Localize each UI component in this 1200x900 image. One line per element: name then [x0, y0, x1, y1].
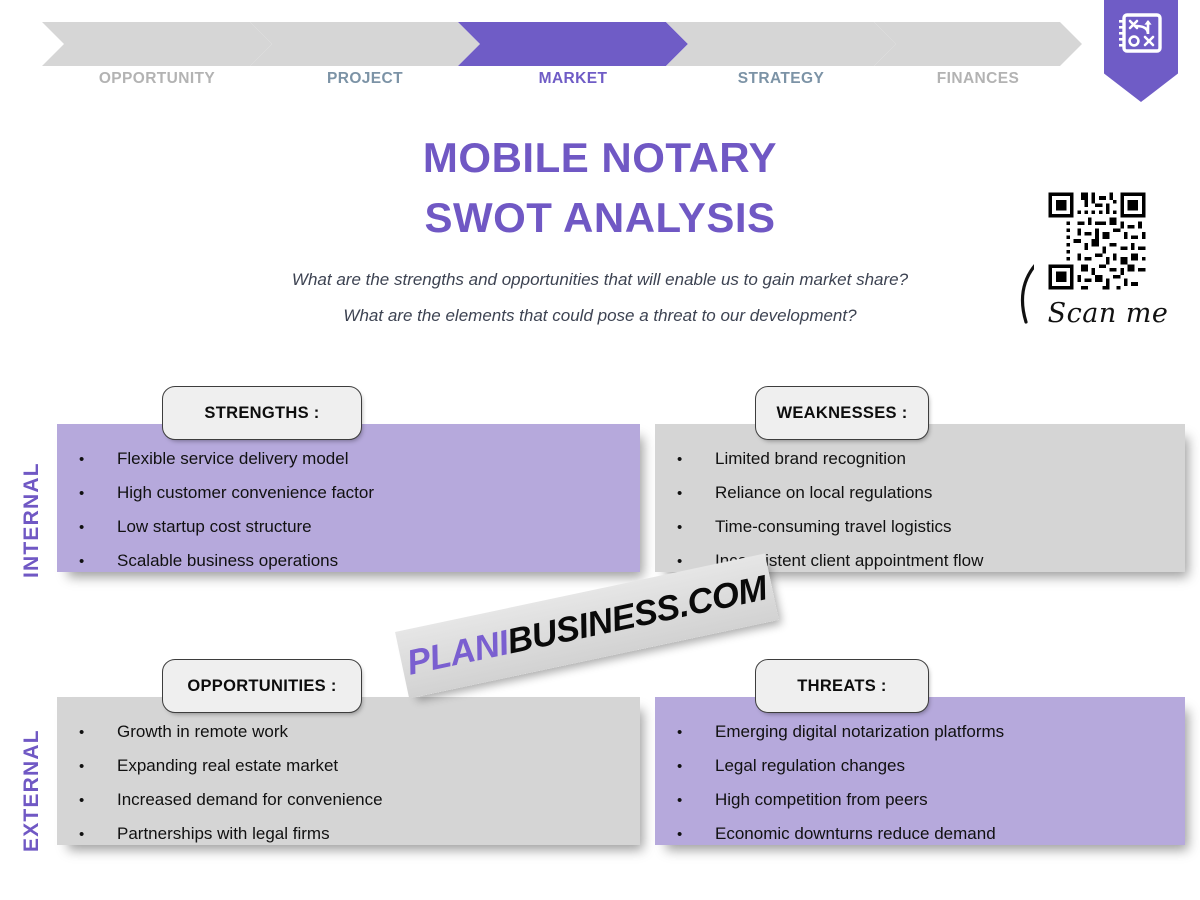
list-item-text: Expanding real estate market: [117, 757, 338, 774]
nav-step-label: OPPORTUNITY: [42, 70, 272, 88]
bullet-icon: •: [71, 486, 117, 501]
bullet-icon: •: [669, 759, 715, 774]
qr-code-icon[interactable]: [1034, 186, 1160, 296]
list-item: • High competition from peers: [669, 791, 1004, 808]
list-item-text: Growth in remote work: [117, 723, 288, 740]
bullet-icon: •: [71, 520, 117, 535]
bullet-icon: •: [71, 725, 117, 740]
axis-label-internal: INTERNAL: [20, 462, 44, 578]
chevron-shape: [458, 22, 688, 66]
list-item: • Expanding real estate market: [71, 757, 383, 774]
bullet-icon: •: [71, 554, 117, 569]
list-item: • Limited brand recognition: [669, 450, 983, 467]
nav-step-opportunity[interactable]: OPPORTUNITY: [42, 22, 272, 66]
bullet-icon: •: [669, 452, 715, 467]
nav-step-project[interactable]: PROJECT: [250, 22, 480, 66]
quadrant-threats-title: THREATS :: [797, 677, 886, 696]
list-item-text: Reliance on local regulations: [715, 484, 932, 501]
chevron-shape: [666, 22, 896, 66]
bullet-icon: •: [669, 725, 715, 740]
quadrant-strengths-badge: STRENGTHS :: [162, 386, 362, 440]
quadrant-opportunities-badge: OPPORTUNITIES :: [162, 659, 362, 713]
threats-list: • Emerging digital notarization platform…: [655, 697, 1004, 859]
list-item-text: Legal regulation changes: [715, 757, 905, 774]
list-item: • Low startup cost structure: [71, 518, 374, 535]
list-item: • Flexible service delivery model: [71, 450, 374, 467]
quadrant-weaknesses-title: WEAKNESSES :: [776, 404, 907, 423]
axis-label-external: EXTERNAL: [20, 729, 44, 852]
chevron-shape: [874, 22, 1082, 66]
list-item-text: Emerging digital notarization platforms: [715, 723, 1004, 740]
list-item: • High customer convenience factor: [71, 484, 374, 501]
list-item: • Reliance on local regulations: [669, 484, 983, 501]
quadrant-threats-body: • Emerging digital notarization platform…: [655, 697, 1185, 845]
quadrant-weaknesses-body: • Limited brand recognition • Reliance o…: [655, 424, 1185, 572]
list-item-text: High customer convenience factor: [117, 484, 374, 501]
qr-block: Scan me: [1012, 186, 1182, 361]
bullet-icon: •: [669, 793, 715, 808]
list-item: • Legal regulation changes: [669, 757, 1004, 774]
list-item-text: Partnerships with legal firms: [117, 825, 330, 842]
quadrant-opportunities-body: • Growth in remote work • Expanding real…: [57, 697, 640, 845]
opportunities-list: • Growth in remote work • Expanding real…: [57, 697, 383, 859]
bullet-icon: •: [71, 827, 117, 842]
list-item-text: Flexible service delivery model: [117, 450, 348, 467]
chevron-shape: [42, 22, 272, 66]
watermark-banner: PLANIBUSINESS.COM: [395, 553, 779, 698]
scan-me-label: Scan me: [1038, 298, 1178, 329]
nav-step-label: STRATEGY: [666, 70, 896, 88]
chevron-shape: [250, 22, 480, 66]
quadrant-threats-badge: THREATS :: [755, 659, 929, 713]
bullet-icon: •: [71, 793, 117, 808]
list-item-text: Economic downturns reduce demand: [715, 825, 996, 842]
bullet-icon: •: [669, 486, 715, 501]
progress-nav: OPPORTUNITY PROJECT MARKET STRATEGY FINA…: [0, 0, 1200, 100]
nav-step-market[interactable]: MARKET: [458, 22, 688, 66]
list-item: • Scalable business operations: [71, 552, 374, 569]
list-item: • Increased demand for convenience: [71, 791, 383, 808]
watermark-text: PLANIBUSINESS.COM: [403, 568, 770, 683]
watermark-brand-part2: BUSINESS.COM: [504, 568, 771, 661]
list-item-text: High competition from peers: [715, 791, 928, 808]
strengths-list: • Flexible service delivery model • High…: [57, 424, 374, 586]
bullet-icon: •: [669, 520, 715, 535]
list-item-text: Low startup cost structure: [117, 518, 312, 535]
bullet-icon: •: [71, 452, 117, 467]
list-item: • Partnerships with legal firms: [71, 825, 383, 842]
watermark-brand-part1: PLANI: [403, 623, 511, 682]
bullet-icon: •: [669, 827, 715, 842]
quadrant-weaknesses-badge: WEAKNESSES :: [755, 386, 929, 440]
weaknesses-list: • Limited brand recognition • Reliance o…: [655, 424, 983, 586]
list-item: • Growth in remote work: [71, 723, 383, 740]
nav-step-strategy[interactable]: STRATEGY: [666, 22, 896, 66]
nav-step-finances[interactable]: FINANCES: [874, 22, 1082, 66]
nav-step-label: PROJECT: [250, 70, 480, 88]
nav-step-label: FINANCES: [874, 70, 1082, 88]
quadrant-strengths-body: • Flexible service delivery model • High…: [57, 424, 640, 572]
quadrant-opportunities-title: OPPORTUNITIES :: [187, 677, 336, 696]
list-item: • Economic downturns reduce demand: [669, 825, 1004, 842]
list-item-text: Limited brand recognition: [715, 450, 906, 467]
list-item-text: Time-consuming travel logistics: [715, 518, 952, 535]
list-item-text: Increased demand for convenience: [117, 791, 383, 808]
title-line-1: MOBILE NOTARY: [0, 128, 1200, 188]
list-item: • Emerging digital notarization platform…: [669, 723, 1004, 740]
nav-step-label: MARKET: [458, 70, 688, 88]
list-item: • Time-consuming travel logistics: [669, 518, 983, 535]
list-item-text: Scalable business operations: [117, 552, 338, 569]
quadrant-strengths-title: STRENGTHS :: [204, 404, 319, 423]
bullet-icon: •: [71, 759, 117, 774]
